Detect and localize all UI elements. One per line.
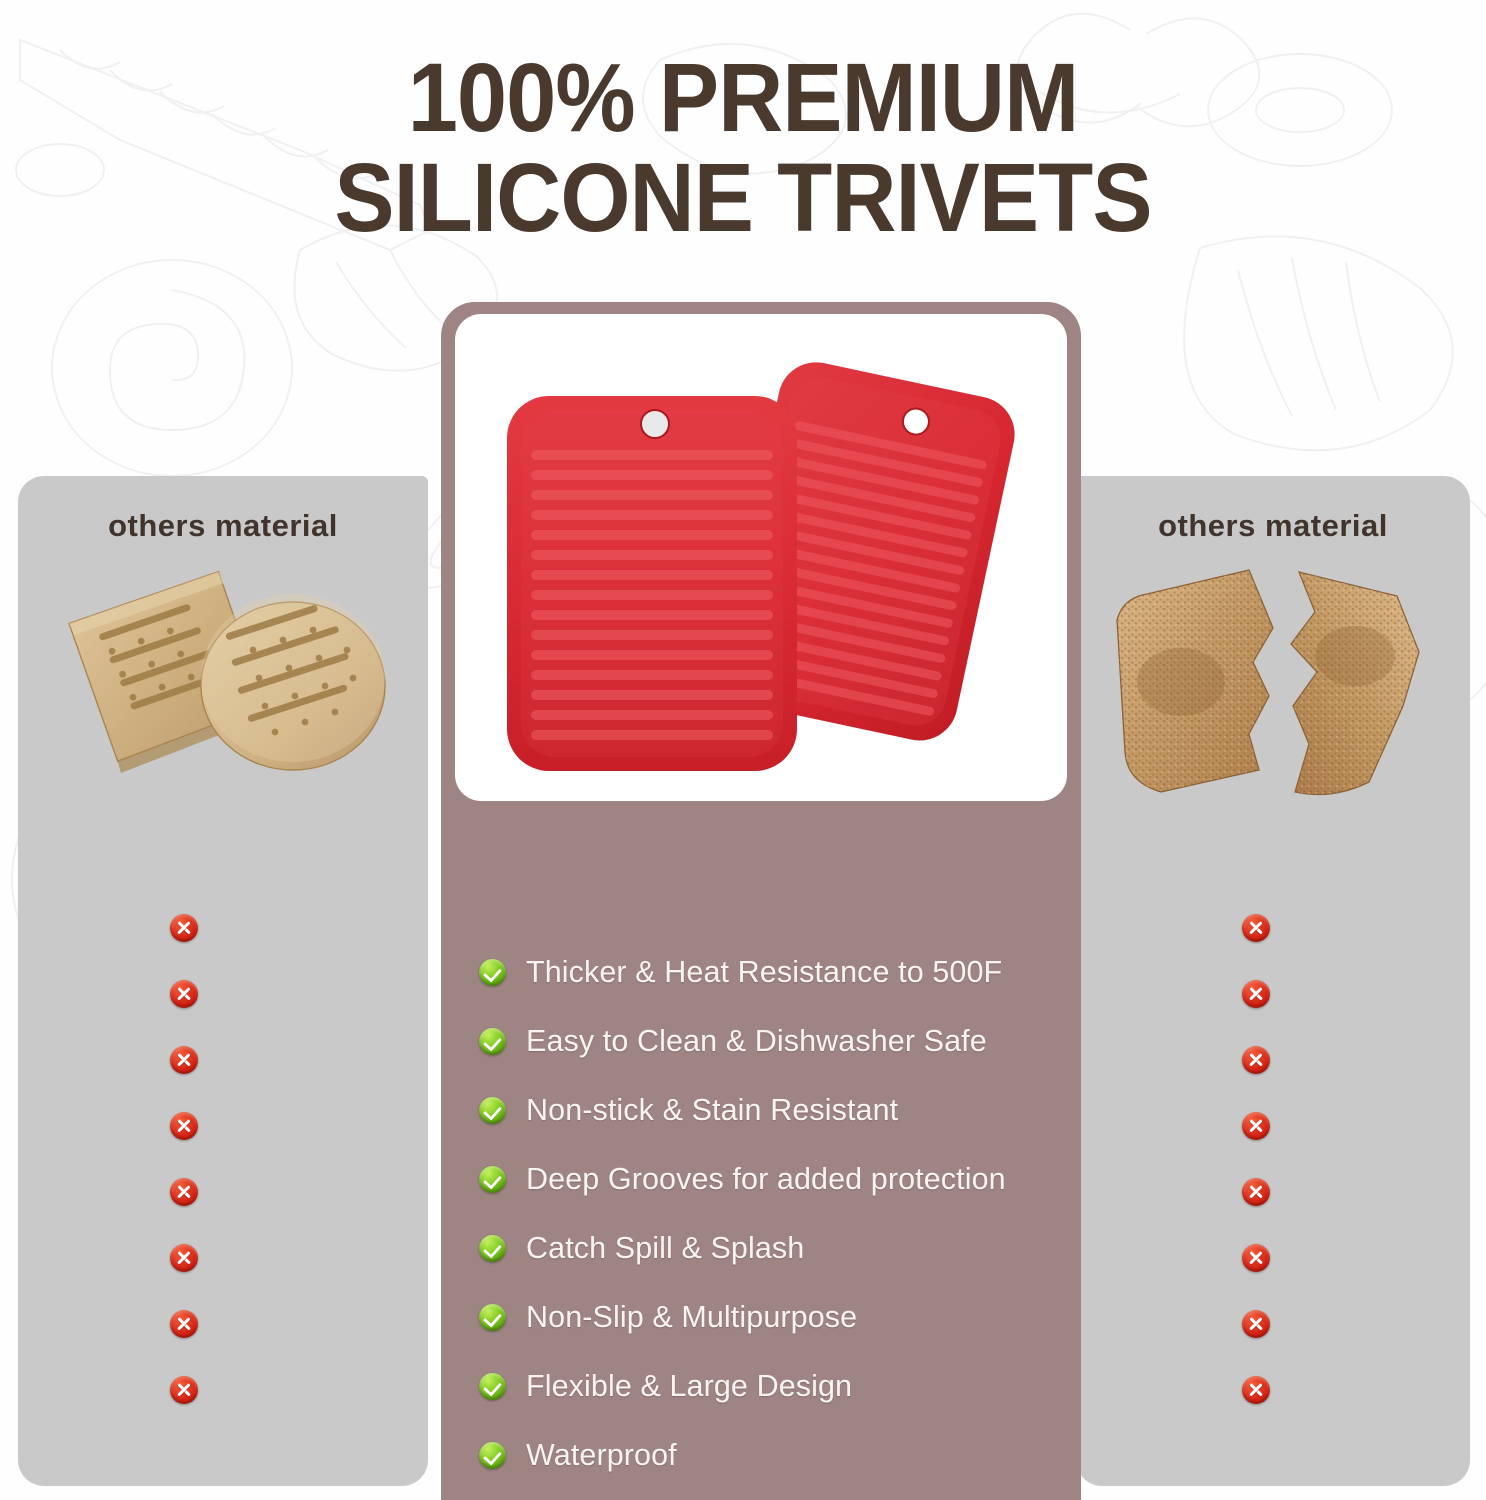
feature-label: Easy to Clean & Dishwasher Safe bbox=[526, 1024, 987, 1059]
right-panel-mark-column bbox=[1242, 914, 1270, 1404]
red-x-icon bbox=[170, 914, 198, 942]
red-x-icon bbox=[1242, 914, 1270, 942]
feature-item: Easy to Clean & Dishwasher Safe bbox=[479, 1007, 1063, 1076]
feature-label: Catch Spill & Splash bbox=[526, 1231, 804, 1266]
broken-cork-trivet-image bbox=[1076, 556, 1470, 826]
feature-item: Catch Spill & Splash bbox=[479, 1214, 1063, 1283]
red-x-icon bbox=[1242, 1178, 1270, 1206]
green-check-icon bbox=[479, 1235, 506, 1262]
feature-label: Waterproof bbox=[526, 1438, 677, 1473]
feature-list: Thicker & Heat Resistance to 500F Easy t… bbox=[479, 938, 1063, 1490]
green-check-icon bbox=[479, 1097, 506, 1124]
red-x-icon bbox=[1242, 1376, 1270, 1404]
feature-item: Deep Grooves for added protection bbox=[479, 1145, 1063, 1214]
red-x-icon bbox=[170, 1310, 198, 1338]
red-x-icon bbox=[1242, 980, 1270, 1008]
infographic-canvas: 100% PREMIUM SILICONE TRIVETS others mat… bbox=[0, 0, 1486, 1500]
title-line-2: SILICONE TRIVETS bbox=[52, 152, 1434, 244]
red-x-icon bbox=[1242, 1310, 1270, 1338]
feature-label: Deep Grooves for added protection bbox=[526, 1162, 1006, 1197]
red-x-icon bbox=[170, 1178, 198, 1206]
left-panel-mark-column bbox=[170, 914, 198, 1404]
red-x-icon bbox=[170, 980, 198, 1008]
red-x-icon bbox=[170, 1112, 198, 1140]
feature-item: Thicker & Heat Resistance to 500F bbox=[479, 938, 1063, 1007]
feature-label: Non-Slip & Multipurpose bbox=[526, 1300, 857, 1335]
product-image-card bbox=[455, 314, 1067, 801]
feature-label: Thicker & Heat Resistance to 500F bbox=[526, 955, 1002, 990]
red-x-icon bbox=[1242, 1046, 1270, 1074]
competitor-panel-left: others material bbox=[18, 476, 428, 1486]
title-line-1: 100% PREMIUM bbox=[52, 52, 1434, 144]
red-x-icon bbox=[1242, 1112, 1270, 1140]
red-x-icon bbox=[170, 1376, 198, 1404]
green-check-icon bbox=[479, 1442, 506, 1469]
feature-item: Flexible & Large Design bbox=[479, 1352, 1063, 1421]
green-check-icon bbox=[479, 1304, 506, 1331]
feature-item: Waterproof bbox=[479, 1421, 1063, 1490]
competitor-panel-right: others material bbox=[1076, 476, 1470, 1486]
red-x-icon bbox=[170, 1244, 198, 1272]
feature-item: Non-stick & Stain Resistant bbox=[479, 1076, 1063, 1145]
feature-label: Non-stick & Stain Resistant bbox=[526, 1093, 898, 1128]
product-panel-center: Thicker & Heat Resistance to 500F Easy t… bbox=[441, 302, 1081, 1500]
red-x-icon bbox=[1242, 1244, 1270, 1272]
left-panel-label: others material bbox=[18, 508, 428, 544]
feature-label: Flexible & Large Design bbox=[526, 1369, 852, 1404]
page-title: 100% PREMIUM SILICONE TRIVETS bbox=[0, 52, 1486, 244]
green-check-icon bbox=[479, 1028, 506, 1055]
green-check-icon bbox=[479, 959, 506, 986]
green-check-icon bbox=[479, 1166, 506, 1193]
feature-item: Non-Slip & Multipurpose bbox=[479, 1283, 1063, 1352]
bamboo-wood-trivets-image bbox=[18, 556, 428, 826]
green-check-icon bbox=[479, 1373, 506, 1400]
red-silicone-trivets-pair bbox=[455, 314, 1067, 801]
red-x-icon bbox=[170, 1046, 198, 1074]
right-panel-label: others material bbox=[1076, 508, 1470, 544]
